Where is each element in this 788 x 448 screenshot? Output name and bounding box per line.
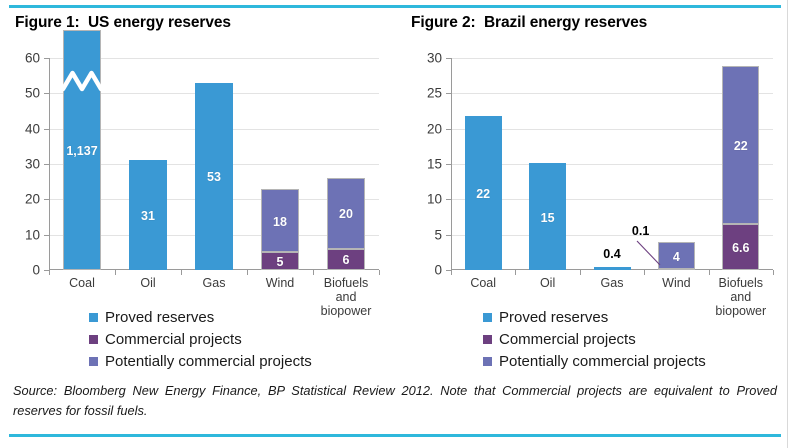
x-axis-category-label: Coal [451, 276, 515, 290]
y-axis-line [451, 58, 452, 270]
figure-1-title: Figure 1: US energy reserves [15, 14, 231, 32]
bar-segment[interactable] [195, 83, 233, 270]
legend-swatch-icon [89, 335, 98, 344]
legend-item-label: Potentially commercial projects [105, 353, 312, 370]
figure-2-plot-area: 05101520253022Coal15Oil0.4Gas40.1Wind6.6… [451, 58, 773, 270]
y-axis-tick-label: 10 [427, 192, 442, 207]
figure-2-panel: Figure 2: Brazil energy reserves 0510152… [399, 14, 788, 370]
y-axis-tick-label: 10 [25, 227, 40, 242]
bar-group[interactable]: 620 [327, 58, 365, 270]
x-axis-tick-mark [515, 270, 516, 275]
bar-segment[interactable] [261, 189, 299, 253]
bar-segment[interactable] [722, 224, 759, 270]
x-axis-category-label: Gas [181, 276, 247, 290]
x-axis-tick-mark [115, 270, 116, 275]
bar-segment[interactable] [722, 66, 759, 224]
legend-swatch-icon [89, 313, 98, 322]
x-axis-tick-mark [247, 270, 248, 275]
top-rule [9, 5, 781, 8]
legend-swatch-icon [483, 313, 492, 322]
legend-item-label: Proved reserves [499, 309, 608, 326]
bottom-rule [9, 434, 781, 437]
figure-page: Figure 1: US energy reserves 01020304050… [0, 0, 788, 448]
x-axis-category-label: Oil [515, 276, 579, 290]
legend-item[interactable]: Commercial projects [89, 328, 312, 350]
bar-group[interactable]: 15 [529, 58, 566, 270]
bar-segment[interactable] [327, 249, 365, 270]
figure-1-legend: Proved reservesCommercial projectsPotent… [89, 306, 312, 372]
bar-group[interactable]: 1,137 [63, 58, 101, 270]
x-axis-category-label: Biofuels and biopower [709, 276, 773, 318]
legend-item[interactable]: Commercial projects [483, 328, 706, 350]
bar-segment[interactable] [465, 116, 502, 270]
y-axis-tick-label: 0 [434, 263, 442, 278]
y-axis-tick-label: 25 [427, 86, 442, 101]
bar-value-label-outside: 0.4 [603, 247, 620, 261]
bar-segment[interactable] [129, 160, 167, 270]
x-axis-tick-mark [181, 270, 182, 275]
x-axis-category-label: Coal [49, 276, 115, 290]
legend-item-label: Commercial projects [105, 331, 242, 348]
x-axis-category-label: Wind [644, 276, 708, 290]
x-axis-tick-mark [773, 270, 774, 275]
legend-item-label: Commercial projects [499, 331, 636, 348]
bar-group[interactable]: 6.622 [722, 58, 759, 270]
bar-segment[interactable] [594, 267, 631, 270]
x-axis-tick-mark [709, 270, 710, 275]
figure-2-title: Figure 2: Brazil energy reserves [411, 14, 647, 32]
bar-group[interactable]: 518 [261, 58, 299, 270]
y-axis-tick-label: 60 [25, 51, 40, 66]
bar-group[interactable]: 31 [129, 58, 167, 270]
x-axis-tick-mark [379, 270, 380, 275]
source-note: Source: Bloomberg New Energy Finance, BP… [13, 381, 777, 421]
y-axis-tick-label: 5 [434, 227, 442, 242]
legend-item[interactable]: Proved reserves [483, 306, 706, 328]
bar-segment[interactable] [327, 178, 365, 249]
y-axis-tick-label: 0 [32, 263, 40, 278]
legend-item[interactable]: Potentially commercial projects [483, 350, 706, 372]
bar-group[interactable] [594, 58, 631, 270]
y-axis-tick-label: 30 [427, 51, 442, 66]
bar-group[interactable]: 53 [195, 58, 233, 270]
y-axis-line [49, 58, 50, 270]
figure-1-plot-area: 01020304050601,137Coal31Oil53Gas518Wind6… [49, 58, 379, 270]
y-axis-tick-label: 15 [427, 157, 442, 172]
y-axis-tick-label: 20 [427, 121, 442, 136]
legend-item[interactable]: Potentially commercial projects [89, 350, 312, 372]
bar-segment[interactable] [529, 163, 566, 270]
figure-1-panel: Figure 1: US energy reserves 01020304050… [3, 14, 397, 370]
x-axis-tick-mark [644, 270, 645, 275]
x-axis-tick-mark [451, 270, 452, 275]
x-axis-category-label: Wind [247, 276, 313, 290]
x-axis-category-label: Oil [115, 276, 181, 290]
callout-leader-line [636, 240, 662, 266]
x-axis-category-label: Biofuels and biopower [313, 276, 379, 318]
legend-item-label: Proved reserves [105, 309, 214, 326]
bar-segment[interactable] [63, 30, 101, 270]
bar-segment[interactable] [658, 242, 695, 270]
figure-2-legend: Proved reservesCommercial projectsPotent… [483, 306, 706, 372]
x-axis-category-label: Gas [580, 276, 644, 290]
y-axis-tick-label: 30 [25, 157, 40, 172]
legend-swatch-icon [89, 357, 98, 366]
x-axis-tick-mark [580, 270, 581, 275]
y-axis-tick-label: 40 [25, 121, 40, 136]
legend-swatch-icon [483, 335, 492, 344]
y-axis-tick-label: 50 [25, 86, 40, 101]
legend-item[interactable]: Proved reserves [89, 306, 312, 328]
bar-group[interactable]: 22 [465, 58, 502, 270]
bar-segment[interactable] [261, 252, 299, 270]
bar-group[interactable]: 4 [658, 58, 695, 270]
legend-swatch-icon [483, 357, 492, 366]
callout-value-label: 0.1 [632, 224, 649, 238]
x-axis-tick-mark [313, 270, 314, 275]
x-axis-tick-mark [49, 270, 50, 275]
legend-item-label: Potentially commercial projects [499, 353, 706, 370]
y-axis-tick-label: 20 [25, 192, 40, 207]
